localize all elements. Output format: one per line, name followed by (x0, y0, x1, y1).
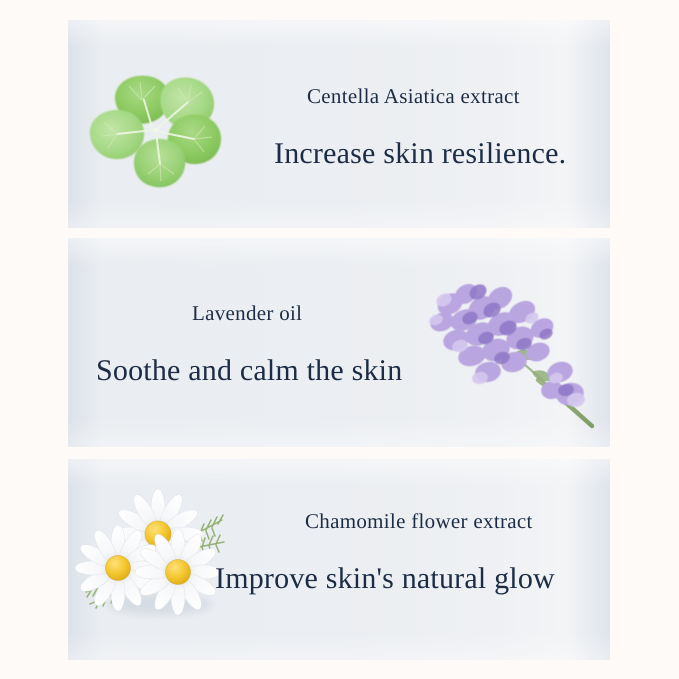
ingredient-name-centella: Centella Asiatica extract (307, 84, 520, 109)
benefit-text-chamomile: Improve skin's natural glow (215, 562, 555, 596)
benefit-text-lavender: Soothe and calm the skin (96, 354, 402, 388)
panel-lavender (68, 238, 610, 447)
ingredient-panels-board: Centella Asiatica extract Increase skin … (0, 0, 679, 679)
panel-chamomile (68, 459, 610, 660)
benefit-text-centella: Increase skin resilience. (274, 137, 566, 171)
panel-centella (68, 20, 610, 228)
ingredient-name-chamomile: Chamomile flower extract (305, 509, 533, 534)
ingredient-name-lavender: Lavender oil (192, 301, 302, 326)
